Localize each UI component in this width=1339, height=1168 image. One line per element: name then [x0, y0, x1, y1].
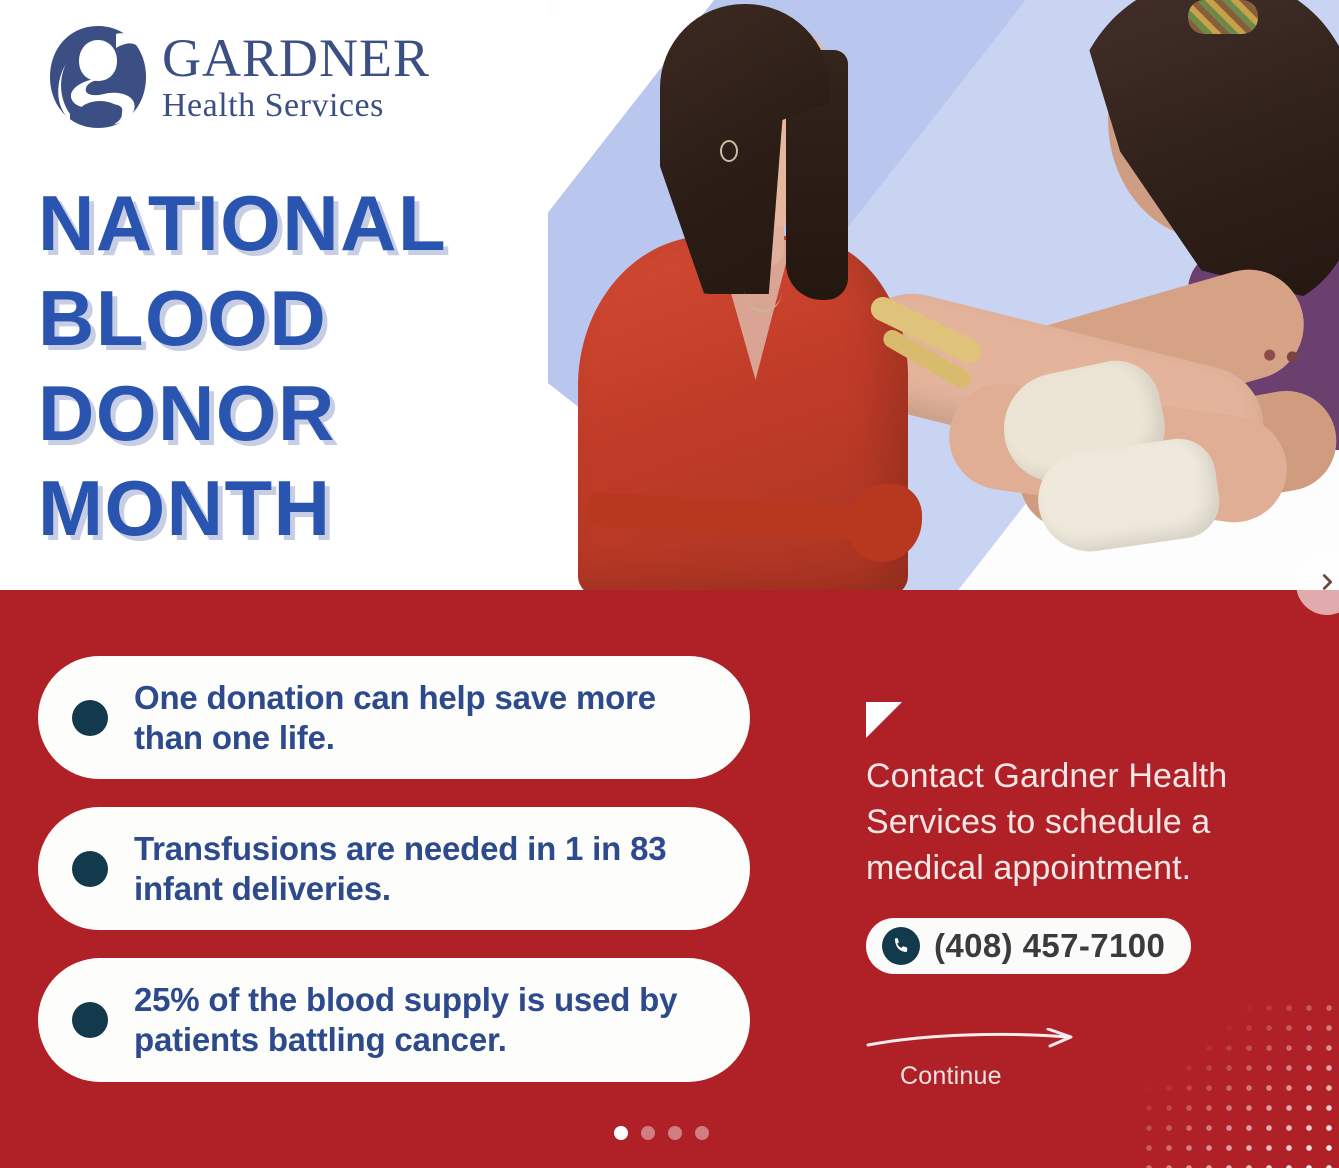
- contact-block: Contact Gardner Health Services to sched…: [866, 702, 1266, 974]
- blood-donor-month-slide: GARDNER Health Services NATIONAL BLOOD D…: [0, 0, 1339, 1168]
- brand-name-secondary: Health Services: [162, 89, 430, 123]
- brand-logo: GARDNER Health Services: [46, 22, 430, 132]
- phone-number: (408) 457-7100: [934, 927, 1165, 965]
- bullet-dot-icon: [72, 1002, 108, 1038]
- donor-necklace: [744, 270, 782, 312]
- carousel-dot-2[interactable]: [641, 1126, 655, 1140]
- phone-icon: [882, 927, 920, 965]
- carousel-dot-4[interactable]: [695, 1126, 709, 1140]
- bullet-dot-icon: [72, 700, 108, 736]
- continue-button[interactable]: Continue: [866, 1028, 1096, 1091]
- carousel-dot-1[interactable]: [614, 1126, 628, 1140]
- hero-section: GARDNER Health Services NATIONAL BLOOD D…: [0, 0, 1339, 592]
- contact-message: Contact Gardner Health Services to sched…: [866, 754, 1266, 892]
- donor-earring: [720, 140, 738, 162]
- phone-button[interactable]: (408) 457-7100: [866, 918, 1191, 974]
- brand-wordmark: GARDNER Health Services: [162, 31, 430, 123]
- page-title: NATIONAL BLOOD DONOR MONTH: [38, 176, 447, 557]
- triangle-corner-icon: [866, 702, 902, 738]
- long-arrow-right-icon: [866, 1028, 1096, 1054]
- gardner-g-figure-mark: [46, 22, 150, 132]
- fact-text: Transfusions are needed in 1 in 83 infan…: [134, 829, 720, 908]
- brand-name-primary: GARDNER: [162, 31, 430, 85]
- bullet-dot-icon: [72, 851, 108, 887]
- chevron-right-icon: [1316, 571, 1338, 598]
- list-item: Transfusions are needed in 1 in 83 infan…: [38, 807, 750, 930]
- hero-photo: [548, 0, 1339, 592]
- fact-pill-list: One donation can help save more than one…: [38, 656, 750, 1110]
- carousel-dot-3[interactable]: [668, 1126, 682, 1140]
- continue-label: Continue: [900, 1062, 1096, 1091]
- list-item: 25% of the blood supply is used by patie…: [38, 958, 750, 1081]
- nurse-hair-scrunchie: [1188, 0, 1258, 34]
- facts-section: One donation can help save more than one…: [0, 590, 1339, 1168]
- list-item: One donation can help save more than one…: [38, 656, 750, 779]
- carousel-dots[interactable]: [614, 1126, 709, 1140]
- fact-text: 25% of the blood supply is used by patie…: [134, 980, 720, 1059]
- fact-text: One donation can help save more than one…: [134, 678, 720, 757]
- halftone-dot-pattern: [1139, 998, 1339, 1168]
